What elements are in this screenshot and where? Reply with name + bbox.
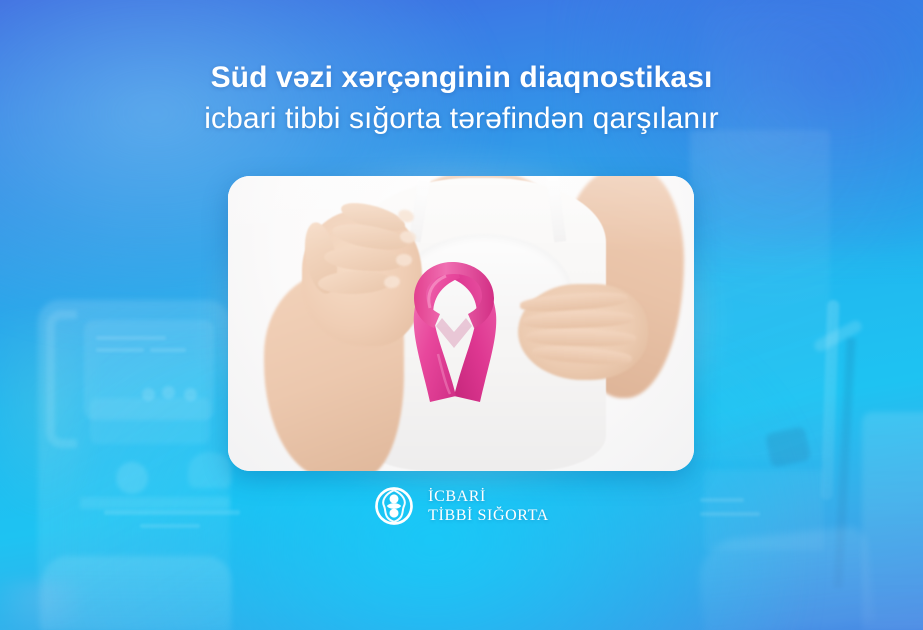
machine-text-ghost <box>150 348 186 352</box>
machine-panel-ghost-icon <box>90 398 210 444</box>
awareness-photo <box>228 176 694 471</box>
photo-card <box>228 176 694 471</box>
logo-text-line-1: İCBARİ <box>428 487 549 506</box>
machine-indicator-ghost <box>142 388 155 401</box>
breast-cancer-awareness-banner: Süd vəzi xərçənginin diaqnostikası icbar… <box>0 0 923 630</box>
logo-text-line-2: TİBBİ SIĞORTA <box>428 506 549 525</box>
stool-ghost-icon <box>0 580 88 630</box>
logo-text: İCBARİ TİBBİ SIĞORTA <box>428 487 549 525</box>
pink-awareness-ribbon-icon <box>406 244 502 410</box>
banner-title: Süd vəzi xərçənginin diaqnostikası icbar… <box>0 58 923 140</box>
title-line-1: Süd vəzi xərçənginin diaqnostikası <box>0 58 923 98</box>
machine-indicator-ghost <box>184 388 197 401</box>
machine-indicator-ghost <box>162 386 175 399</box>
machine-handle-ghost-icon <box>46 310 77 448</box>
icbari-tibbi-sigorta-logo-icon <box>374 486 414 526</box>
machine-text-ghost <box>96 336 166 340</box>
title-line-2: icbari tibbi sığorta tərəfindən qarşılan… <box>0 98 923 140</box>
machine-text-ghost <box>96 348 144 352</box>
exam-lamp-ghost-icon <box>765 426 811 468</box>
logo-lockup: İCBARİ TİBBİ SIĞORTA <box>0 486 923 526</box>
